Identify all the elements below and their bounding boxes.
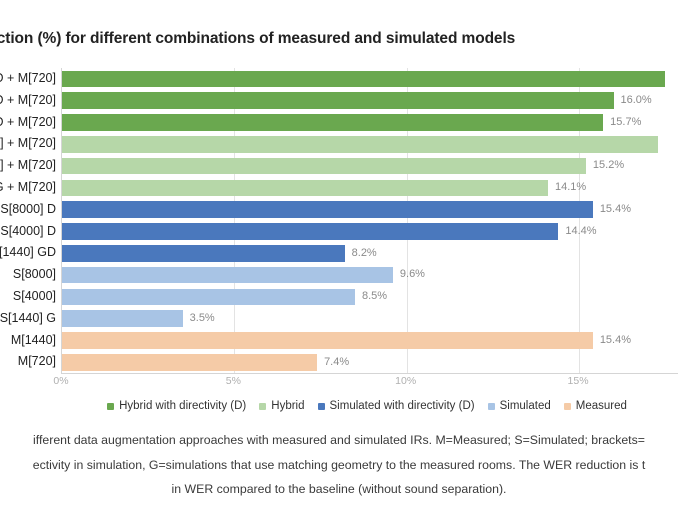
bar-value-label: 9.6% xyxy=(400,266,425,283)
plot-area: D + M[720]D + M[720]D + M[720]] + M[720]… xyxy=(0,68,678,373)
bar-value-label: 15.4% xyxy=(600,332,631,349)
x-axis-ticks: 0%5%10%15% xyxy=(0,375,678,393)
bar-value-label: 7.4% xyxy=(324,354,349,371)
chart-page: duction (%) for different combinations o… xyxy=(0,0,678,509)
bar-value-label: 14.1% xyxy=(555,179,586,196)
category-label: D + M[720] xyxy=(0,90,56,112)
category-label: G + M[720] xyxy=(0,177,56,199)
legend-item[interactable]: Hybrid xyxy=(259,400,304,412)
bar[interactable] xyxy=(62,310,183,327)
bar-row[interactable]: 15.4% xyxy=(62,199,678,221)
category-label: S[4000] xyxy=(13,286,56,308)
category-label: ] + M[720] xyxy=(0,155,56,177)
bar-row[interactable]: 8.2% xyxy=(62,242,678,264)
plot-grid: 16.0%15.7%15.2%14.1%15.4%14.4%8.2%9.6%8.… xyxy=(61,68,678,373)
x-tick-label: 0% xyxy=(53,375,68,387)
category-label: M[1440] xyxy=(11,330,56,352)
category-label: D + M[720] xyxy=(0,112,56,134)
bar[interactable] xyxy=(62,180,548,197)
legend-item[interactable]: Hybrid with directivity (D) xyxy=(107,400,246,412)
bar[interactable] xyxy=(62,158,586,175)
bar-row[interactable]: 16.0% xyxy=(62,90,678,112)
x-axis-line xyxy=(61,373,678,374)
legend-item[interactable]: Measured xyxy=(564,400,627,412)
bar[interactable] xyxy=(62,354,317,371)
figure-caption: ifferent data augmentation approaches wi… xyxy=(0,428,678,502)
bar-value-label: 14.4% xyxy=(565,223,596,240)
bar[interactable] xyxy=(62,332,593,349)
bar-row[interactable] xyxy=(62,133,678,155)
caption-line-3: in WER compared to the baseline (without… xyxy=(0,477,678,502)
bar[interactable] xyxy=(62,201,593,218)
legend-label: Measured xyxy=(576,400,627,412)
legend-label: Hybrid xyxy=(271,400,304,412)
legend-label: Hybrid with directivity (D) xyxy=(119,400,246,412)
bar-row[interactable]: 7.4% xyxy=(62,351,678,373)
x-tick-label: 15% xyxy=(568,375,589,387)
category-label: S[8000] D xyxy=(0,199,56,221)
bar-row[interactable]: 3.5% xyxy=(62,308,678,330)
bar-row[interactable]: 15.2% xyxy=(62,155,678,177)
category-label: D + M[720] xyxy=(0,68,56,90)
category-label: S[8000] xyxy=(13,264,56,286)
bar-value-label: 15.2% xyxy=(593,157,624,174)
category-label: ] + M[720] xyxy=(0,133,56,155)
legend-label: Simulated with directivity (D) xyxy=(330,400,475,412)
bar[interactable] xyxy=(62,92,614,109)
bar[interactable] xyxy=(62,289,355,306)
bar-row[interactable]: 14.1% xyxy=(62,177,678,199)
bar-value-label: 16.0% xyxy=(621,92,652,109)
category-label: M[720] xyxy=(18,351,56,373)
legend-swatch-icon xyxy=(107,403,114,410)
bar[interactable] xyxy=(62,223,558,240)
legend-item[interactable]: Simulated with directivity (D) xyxy=(318,400,475,412)
bar-row[interactable]: 15.7% xyxy=(62,112,678,134)
bar-value-label: 8.2% xyxy=(352,245,377,262)
bar-row[interactable]: 15.4% xyxy=(62,330,678,352)
legend-swatch-icon xyxy=(318,403,325,410)
chart-title: duction (%) for different combinations o… xyxy=(0,30,678,48)
bar-row[interactable] xyxy=(62,68,678,90)
legend-label: Simulated xyxy=(500,400,551,412)
bar[interactable] xyxy=(62,71,665,88)
bar[interactable] xyxy=(62,267,393,284)
legend-swatch-icon xyxy=(488,403,495,410)
bar-row[interactable]: 9.6% xyxy=(62,264,678,286)
bar[interactable] xyxy=(62,114,603,131)
bar-row[interactable]: 14.4% xyxy=(62,221,678,243)
category-label: S[1440] GD xyxy=(0,242,56,264)
legend-item[interactable]: Simulated xyxy=(488,400,551,412)
bar-value-label: 8.5% xyxy=(362,288,387,305)
caption-line-1: ifferent data augmentation approaches wi… xyxy=(0,428,678,453)
x-tick-label: 5% xyxy=(226,375,241,387)
bar[interactable] xyxy=(62,136,658,153)
caption-line-2: ectivity in simulation, G=simulations th… xyxy=(0,453,678,478)
x-tick-label: 10% xyxy=(395,375,416,387)
category-label: S[1440] G xyxy=(0,308,56,330)
category-axis-labels: D + M[720]D + M[720]D + M[720]] + M[720]… xyxy=(0,68,60,373)
bar-value-label: 15.7% xyxy=(610,114,641,131)
legend-swatch-icon xyxy=(259,403,266,410)
bar-row[interactable]: 8.5% xyxy=(62,286,678,308)
chart-legend: Hybrid with directivity (D)HybridSimulat… xyxy=(0,396,678,416)
bar-value-label: 3.5% xyxy=(190,310,215,327)
bar[interactable] xyxy=(62,245,345,262)
bar-value-label: 15.4% xyxy=(600,201,631,218)
legend-swatch-icon xyxy=(564,403,571,410)
category-label: S[4000] D xyxy=(0,221,56,243)
